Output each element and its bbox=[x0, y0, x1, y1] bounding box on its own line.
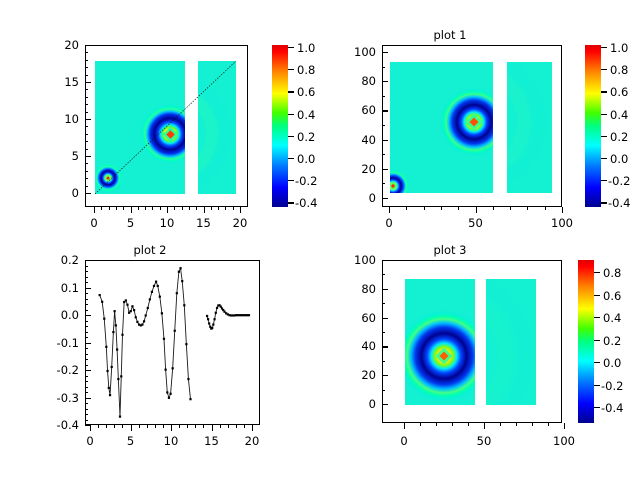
colorbar-top-left bbox=[272, 45, 288, 207]
xtick-label: 15 bbox=[204, 434, 219, 448]
title-plot-2: plot 2 bbox=[90, 243, 210, 257]
colorbar-tick-label: -0.2 bbox=[295, 174, 317, 188]
xtick-label: 50 bbox=[468, 216, 483, 230]
axes-frame-top-left bbox=[85, 45, 248, 207]
colorbar-tick-label: 0.8 bbox=[603, 266, 621, 280]
xtick-label: 0 bbox=[90, 216, 97, 230]
xtick-label: 100 bbox=[551, 216, 573, 230]
ytick-label: -0.3 bbox=[38, 391, 79, 405]
colorbar-tick-label: 1.0 bbox=[610, 41, 628, 55]
axes-frame-top-right bbox=[382, 45, 562, 207]
ytick-label: 0.1 bbox=[38, 281, 79, 295]
colorbar-tick-label: 0.0 bbox=[610, 152, 628, 166]
axes-frame-bottom-left bbox=[85, 260, 260, 425]
heatmap-bottom-right bbox=[383, 261, 563, 424]
xtick-label: 50 bbox=[477, 434, 492, 448]
ytick-label: 5 bbox=[46, 149, 79, 163]
colorbar-tick-label: 0.4 bbox=[297, 108, 315, 122]
colorbar-tick-label: 0.8 bbox=[297, 63, 315, 77]
colorbar-tick-label: -0.4 bbox=[601, 401, 623, 415]
colorbar-tick-label: 0.4 bbox=[603, 311, 621, 325]
xtick-label: 0 bbox=[86, 434, 93, 448]
xtick-label: 5 bbox=[127, 434, 134, 448]
xtick-label: 15 bbox=[196, 216, 211, 230]
colorbar-tick-label: 0.8 bbox=[610, 63, 628, 77]
ytick-label: 100 bbox=[334, 253, 376, 267]
colorbar-tick-label: 0.2 bbox=[603, 334, 621, 348]
heatmap-top-left bbox=[86, 46, 249, 208]
ytick-label: 20 bbox=[334, 368, 376, 382]
ytick-label: 15 bbox=[46, 75, 79, 89]
xtick-label: 0 bbox=[400, 434, 407, 448]
xtick-label: 100 bbox=[553, 434, 575, 448]
colorbar-tick-label: 0.2 bbox=[297, 130, 315, 144]
ytick-label: 80 bbox=[334, 282, 376, 296]
ytick-label: 60 bbox=[334, 311, 376, 325]
ytick-label: 60 bbox=[334, 103, 376, 117]
colorbar-tick-label: 1.0 bbox=[297, 41, 315, 55]
ytick-label: 20 bbox=[46, 38, 79, 52]
colorbar-tick-label: -0.2 bbox=[601, 379, 623, 393]
subplot-bottom-left: plot 2 bbox=[0, 240, 320, 480]
ytick-label: 20 bbox=[334, 162, 376, 176]
figure-canvas: 0 5 10 15 20 20 bbox=[0, 0, 640, 480]
xtick-label: 5 bbox=[127, 216, 134, 230]
xtick-label: 10 bbox=[164, 434, 179, 448]
colorbar-tick-label: 0.4 bbox=[610, 108, 628, 122]
ytick-label: 0.0 bbox=[38, 308, 79, 322]
heatmap-top-right bbox=[383, 46, 563, 208]
colorbar-top-right bbox=[585, 45, 601, 207]
subplot-top-left: 0 5 10 15 20 20 bbox=[0, 0, 320, 240]
colorbar-tick-label: -0.4 bbox=[295, 196, 317, 210]
subplot-bottom-right: plot 3 bbox=[320, 240, 640, 480]
xtick-label: 20 bbox=[233, 216, 248, 230]
ytick-label: 100 bbox=[334, 45, 376, 59]
subplot-top-right: plot 1 bbox=[320, 0, 640, 240]
title-plot-1: plot 1 bbox=[380, 28, 520, 42]
ytick-label: 10 bbox=[46, 112, 79, 126]
title-plot-3: plot 3 bbox=[380, 243, 520, 257]
ytick-label: -0.4 bbox=[38, 418, 79, 432]
xtick-label: 20 bbox=[245, 434, 260, 448]
colorbar-bottom-right bbox=[578, 260, 594, 423]
xtick-label: 0 bbox=[385, 216, 392, 230]
ytick-label: 0 bbox=[46, 186, 79, 200]
ytick-label: 80 bbox=[334, 74, 376, 88]
ytick-label: 40 bbox=[334, 133, 376, 147]
ytick-label: -0.1 bbox=[38, 336, 79, 350]
lineplot-bottom-left bbox=[86, 261, 261, 426]
ytick-label: 0.2 bbox=[38, 253, 79, 267]
ytick-label: 40 bbox=[334, 339, 376, 353]
colorbar-tick-label: 0.0 bbox=[297, 152, 315, 166]
axes-frame-bottom-right bbox=[382, 260, 562, 423]
ytick-label: 0 bbox=[334, 191, 376, 205]
ytick-label: -0.2 bbox=[38, 363, 79, 377]
colorbar-tick-label: 0.0 bbox=[603, 356, 621, 370]
ytick-label: 0 bbox=[334, 397, 376, 411]
colorbar-tick-label: 0.6 bbox=[603, 289, 621, 303]
colorbar-tick-label: -0.4 bbox=[608, 196, 630, 210]
xtick-label: 10 bbox=[160, 216, 175, 230]
colorbar-tick-label: 0.2 bbox=[610, 130, 628, 144]
colorbar-tick-label: 0.6 bbox=[297, 85, 315, 99]
colorbar-tick-label: 0.6 bbox=[610, 85, 628, 99]
colorbar-tick-label: -0.2 bbox=[608, 174, 630, 188]
